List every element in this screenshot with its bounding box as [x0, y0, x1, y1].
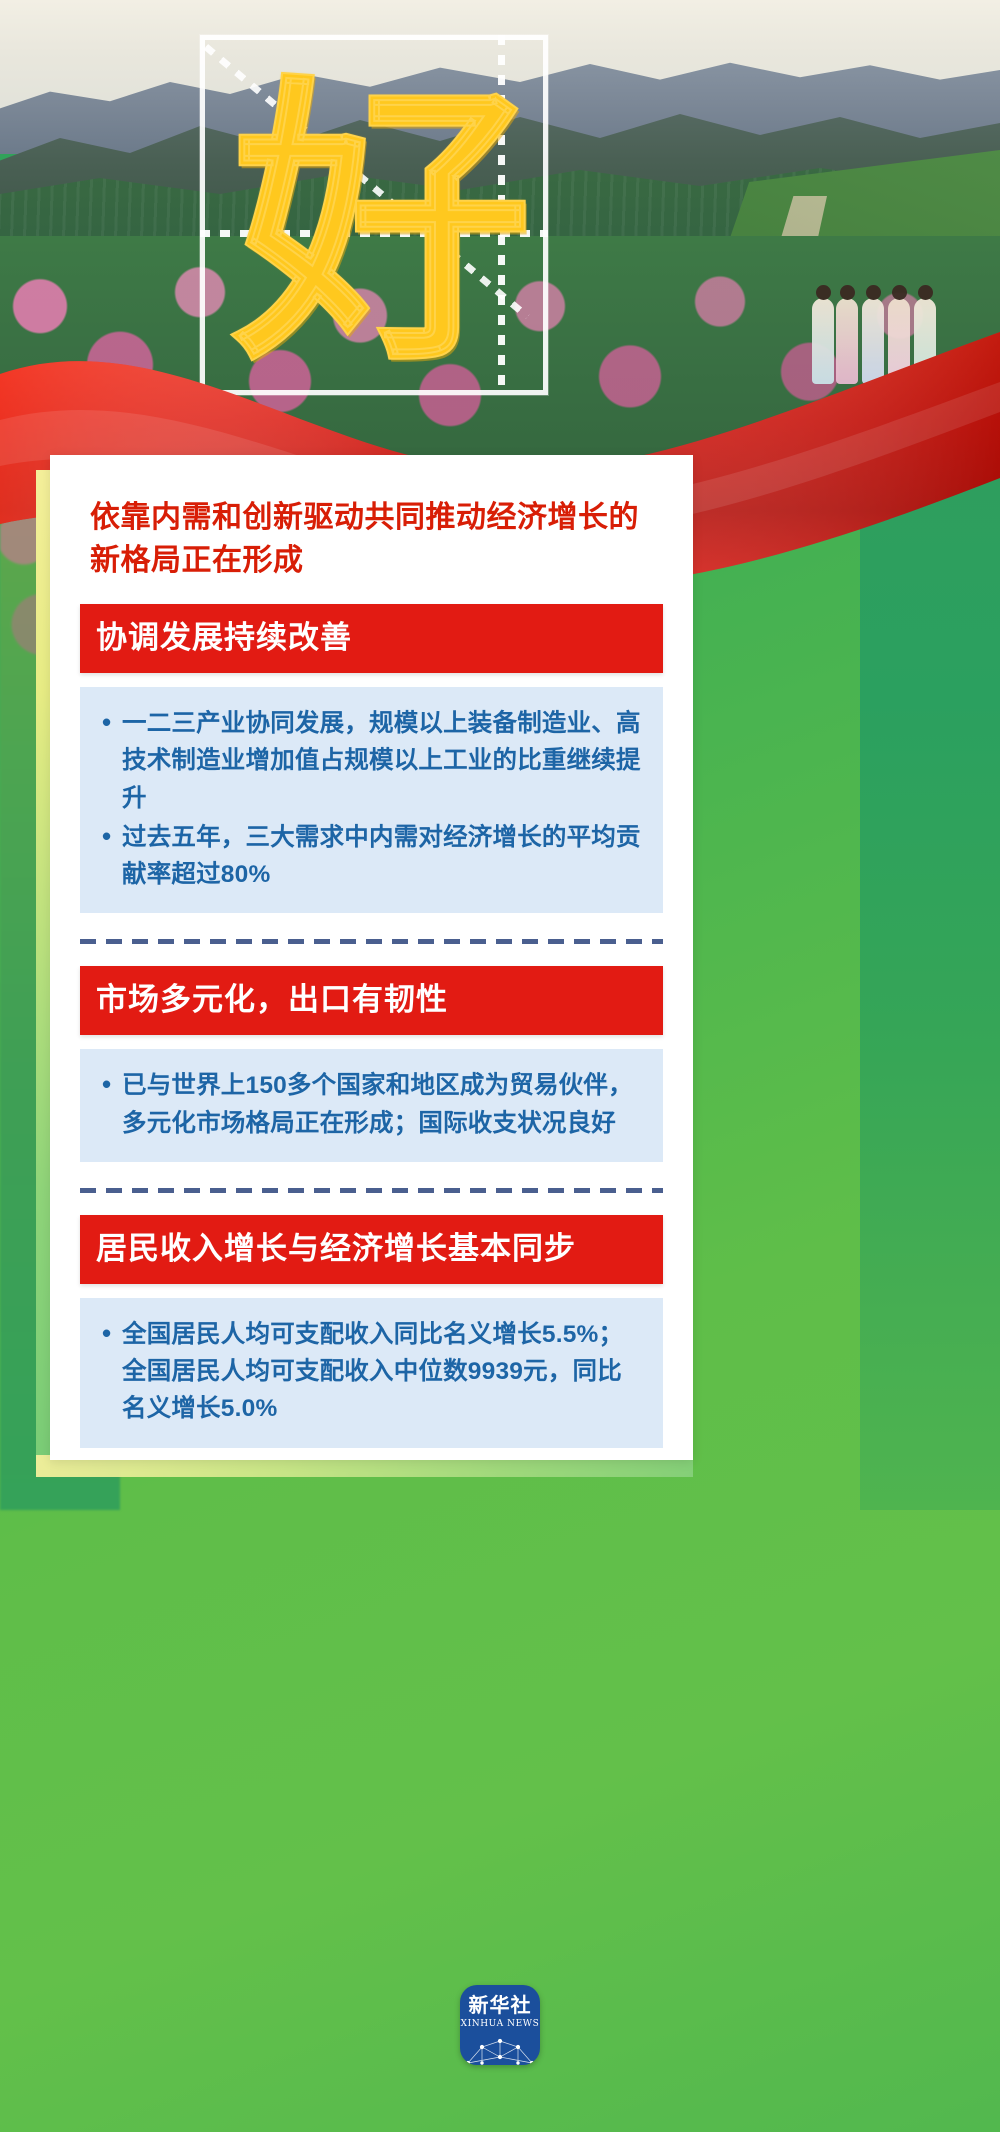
section-header: 协调发展持续改善: [80, 604, 663, 673]
section-divider: [80, 939, 663, 944]
section-market-diversification: 市场多元化，出口有韧性 已与世界上150多个国家和地区成为贸易伙伴，多元化市场格…: [80, 966, 663, 1161]
infographic-poster: 好 依靠: [0, 0, 1000, 2132]
list-item: 全国居民人均可支配收入同比名义增长5.5%；全国居民人均可支配收入中位数9939…: [98, 1316, 641, 1428]
section-resident-income: 居民收入增长与经济增长基本同步 全国居民人均可支配收入同比名义增长5.5%；全国…: [80, 1215, 663, 1448]
network-globe-icon: [460, 2033, 540, 2065]
bullet-list: 一二三产业协同发展，规模以上装备制造业、高技术制造业增加值占规模以上工业的比重继…: [98, 705, 641, 893]
list-item: 一二三产业协同发展，规模以上装备制造业、高技术制造业增加值占规模以上工业的比重继…: [98, 705, 641, 817]
xinhua-news-logo[interactable]: 新华社 XINHUA NEWS: [460, 1985, 540, 2065]
bullet-list: 已与世界上150多个国家和地区成为贸易伙伴，多元化市场格局正在形成；国际收支状况…: [98, 1067, 641, 1141]
bullet-list: 全国居民人均可支配收入同比名义增长5.5%；全国居民人均可支配收入中位数9939…: [98, 1316, 641, 1428]
logo-english-text: XINHUA NEWS: [460, 2019, 540, 2029]
list-item: 过去五年，三大需求中内需对经济增长的平均贡献率超过80%: [98, 819, 641, 893]
background-foliage-right: [860, 430, 1000, 1510]
section-header: 居民收入增长与经济增长基本同步: [80, 1215, 663, 1284]
section-body: 一二三产业协同发展，规模以上装备制造业、高技术制造业增加值占规模以上工业的比重继…: [80, 687, 663, 913]
list-item: 已与世界上150多个国家和地区成为贸易伙伴，多元化市场格局正在形成；国际收支状况…: [98, 1067, 641, 1141]
footer: 新华社 XINHUA NEWS: [0, 1985, 1000, 2132]
section-coordinated-development: 协调发展持续改善 一二三产业协同发展，规模以上装备制造业、高技术制造业增加值占规…: [80, 604, 663, 913]
logo-chinese-text: 新华社: [460, 1995, 540, 2015]
section-body: 已与世界上150多个国家和地区成为贸易伙伴，多元化市场格局正在形成；国际收支状况…: [80, 1049, 663, 1161]
section-body: 全国居民人均可支配收入同比名义增长5.5%；全国居民人均可支配收入中位数9939…: [80, 1298, 663, 1448]
card-left-accent-bar: [36, 470, 50, 1470]
content-card: 依靠内需和创新驱动共同推动经济增长的新格局正在形成 协调发展持续改善 一二三产业…: [50, 455, 693, 1460]
section-header: 市场多元化，出口有韧性: [80, 966, 663, 1035]
section-divider: [80, 1188, 663, 1193]
page-title: 依靠内需和创新驱动共同推动经济增长的新格局正在形成: [90, 497, 663, 582]
